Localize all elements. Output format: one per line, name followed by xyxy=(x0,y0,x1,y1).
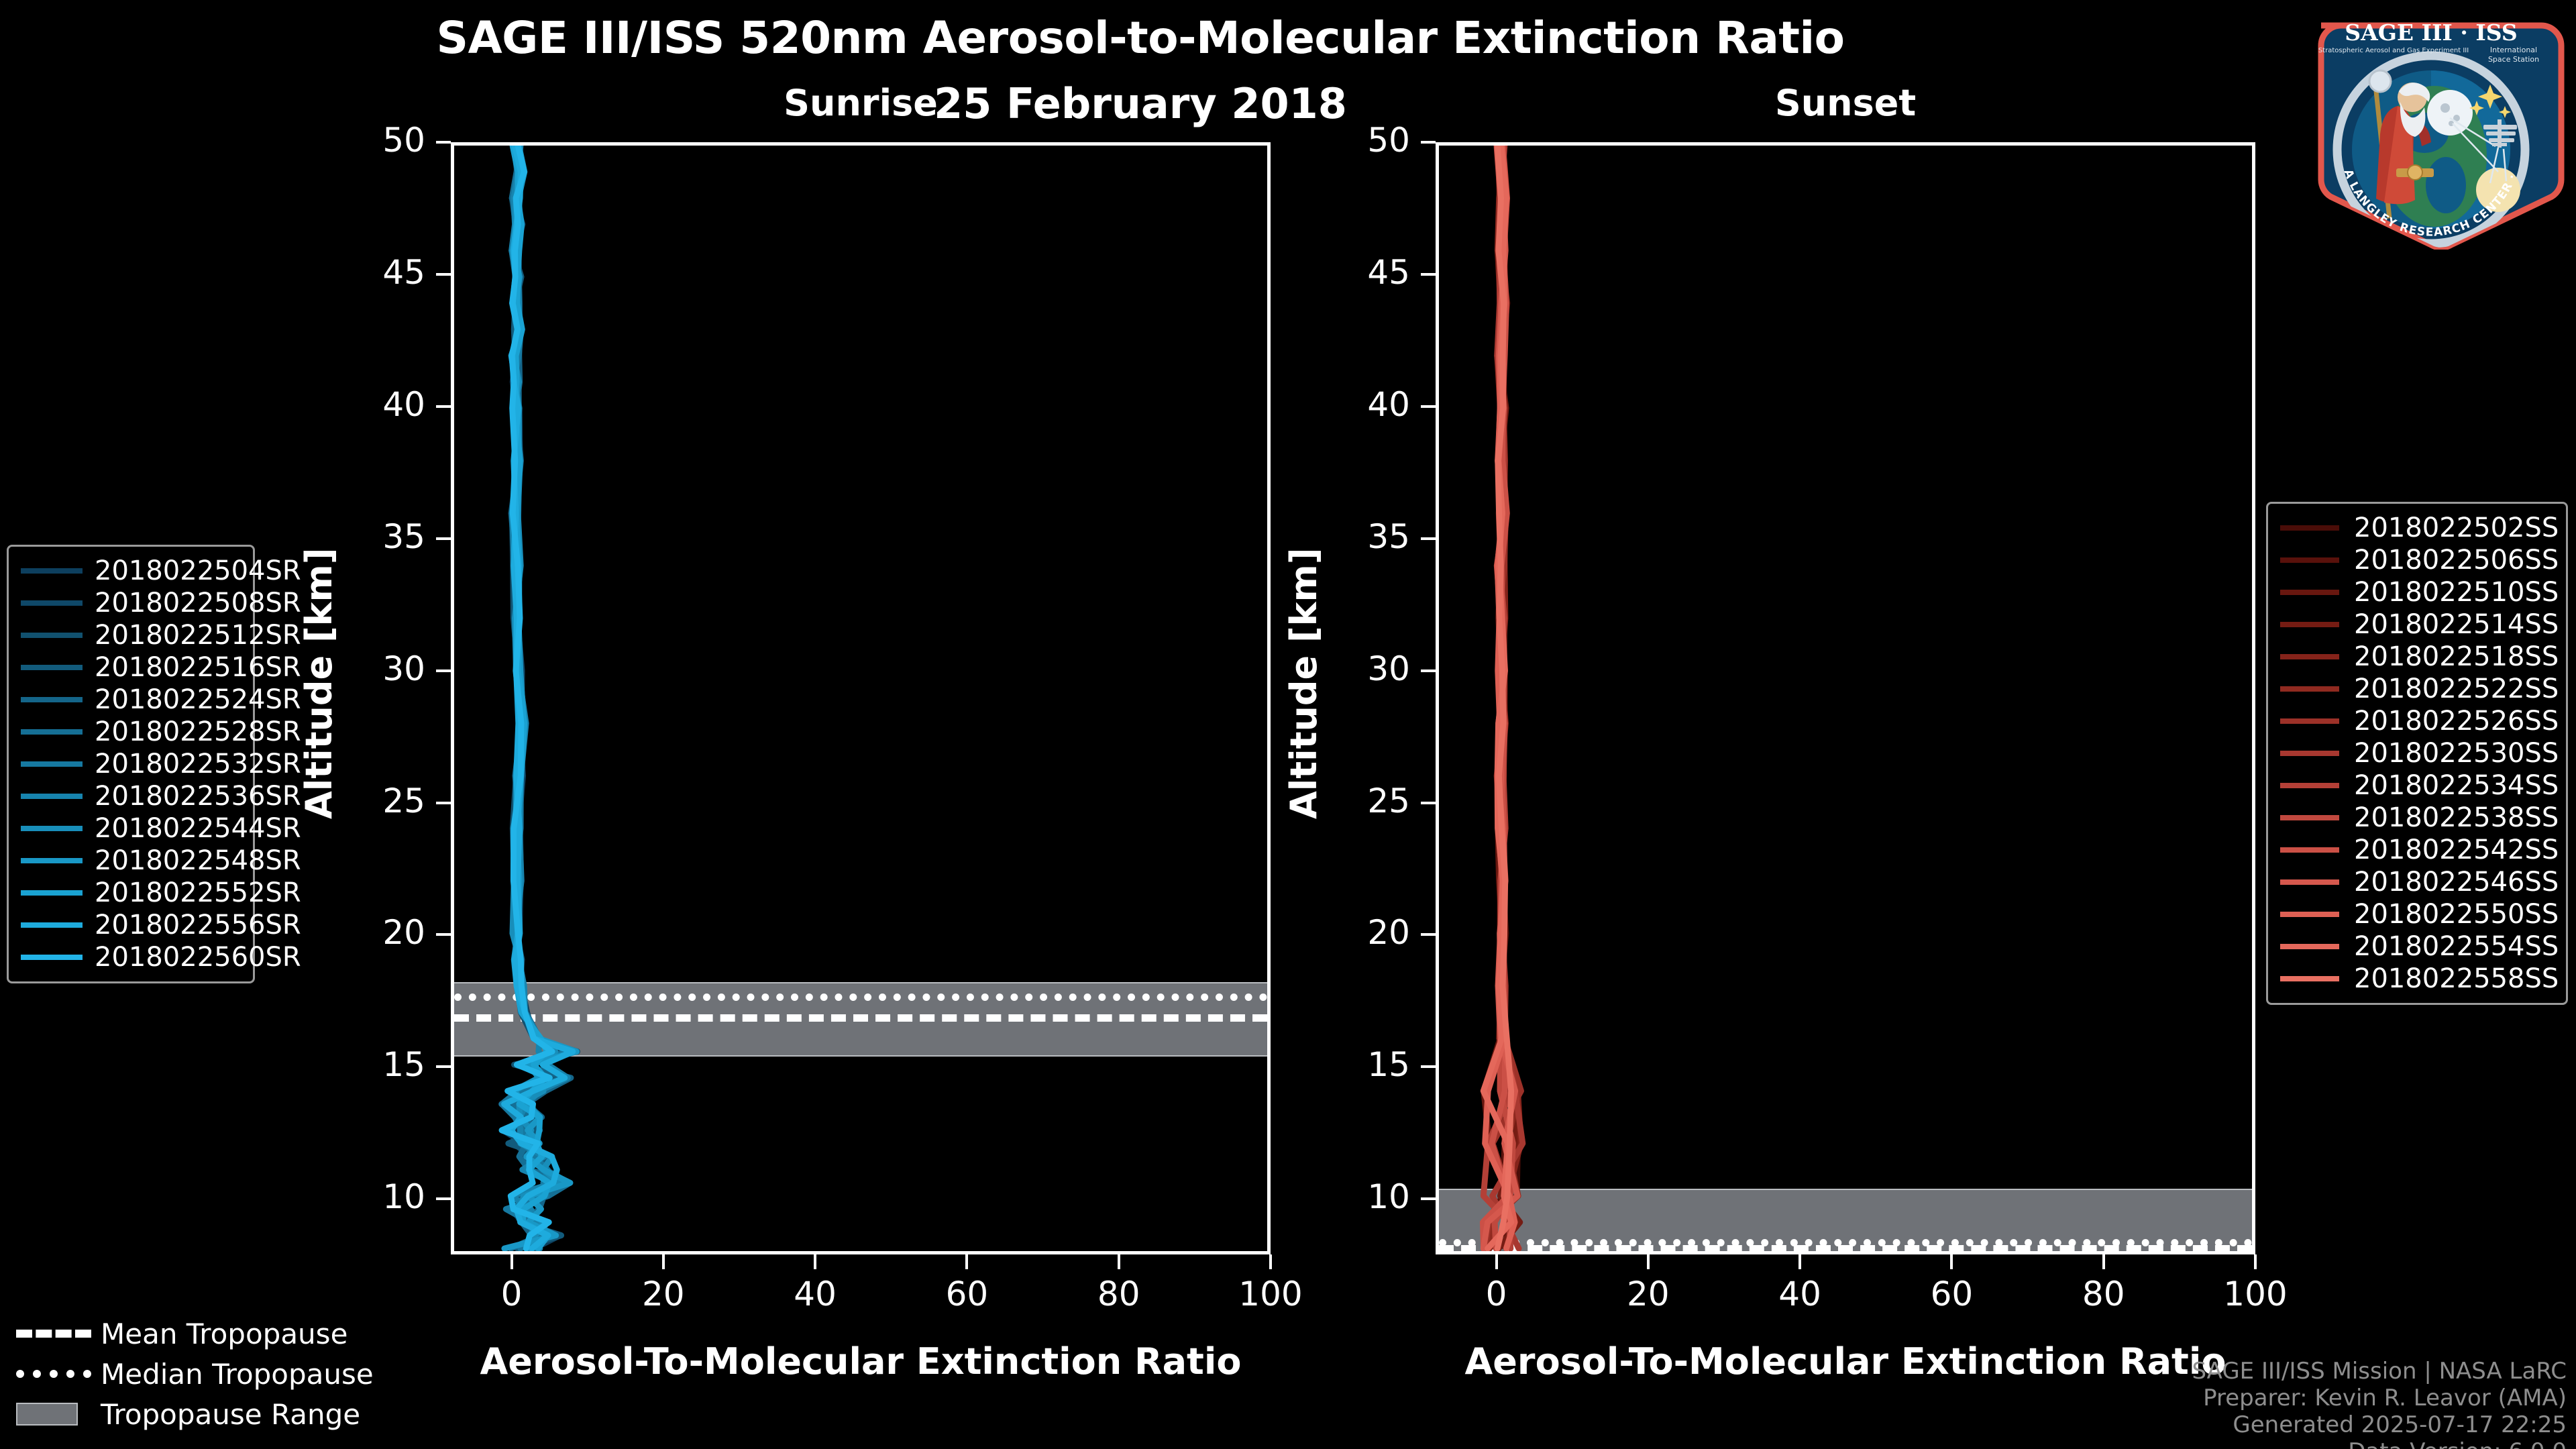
legend-sunset-label: 2018022514SS xyxy=(2354,609,2559,640)
xtick-sunset-80 xyxy=(2102,1254,2105,1269)
legend-sunrise-label: 2018022516SR xyxy=(95,652,301,683)
page-title: SAGE III/ISS 520nm Aerosol-to-Molecular … xyxy=(0,12,2281,64)
legend-sunset-item[interactable]: 2018022506SS xyxy=(2280,544,2554,576)
legend-sunrise-item[interactable]: 2018022544SR xyxy=(21,812,241,845)
legend-sunset-color-swatch xyxy=(2280,847,2339,853)
footer-line-mission: SAGE III/ISS Mission | NASA LaRC xyxy=(2192,1358,2567,1385)
xtick-label-sunrise-20: 20 xyxy=(596,1275,731,1313)
legend-sunrise-item[interactable]: 2018022512SR xyxy=(21,619,241,651)
legend-sunrise-label: 2018022528SR xyxy=(95,716,301,747)
ytick-sunset-35 xyxy=(1421,537,1436,540)
legend-sunrise-color-swatch xyxy=(21,922,83,928)
patch-subtitle-right-1: International xyxy=(2490,46,2537,54)
legend-sunrise-color-swatch xyxy=(21,568,83,574)
footer-credits: SAGE III/ISS Mission | NASA LaRC Prepare… xyxy=(2192,1358,2567,1449)
legend-sunrise-label: 2018022508SR xyxy=(95,588,301,619)
xaxis-title-sunset: Aerosol-To-Molecular Extinction Ratio xyxy=(1436,1340,2255,1383)
legend-sunrise-label: 2018022548SR xyxy=(95,845,301,876)
yaxis-title-sunset: Altitude [km] xyxy=(1283,548,1325,820)
plot-area-sunrise xyxy=(451,142,1271,1254)
xtick-sunrise-20 xyxy=(662,1254,665,1269)
legend-sunset-item[interactable]: 2018022502SS xyxy=(2280,512,2554,544)
legend-sunrise-label: 2018022532SR xyxy=(95,749,301,780)
ytick-label-sunset-50: 50 xyxy=(1308,121,1410,160)
legend-sunset-item[interactable]: 2018022550SS xyxy=(2280,898,2554,930)
xtick-sunrise-80 xyxy=(1118,1254,1120,1269)
ytick-label-sunrise-45: 45 xyxy=(323,253,425,292)
legend-sunrise-label: 2018022544SR xyxy=(95,813,301,844)
legend-sunset-item[interactable]: 2018022546SS xyxy=(2280,866,2554,898)
legend-sunset-color-swatch xyxy=(2280,557,2339,563)
legend-sunset-label: 2018022530SS xyxy=(2354,738,2559,769)
legend-sunset-label: 2018022534SS xyxy=(2354,770,2559,801)
footer-line-generated: Generated 2025-07-17 22:25 xyxy=(2192,1411,2567,1438)
legend-sunrise-color-swatch xyxy=(21,600,83,606)
ytick-label-sunset-45: 45 xyxy=(1308,253,1410,292)
ytick-label-sunrise-20: 20 xyxy=(323,913,425,952)
legend-sunset-label: 2018022546SS xyxy=(2354,867,2559,898)
legend-sunrise-item[interactable]: 2018022504SR xyxy=(21,555,241,587)
legend-sunset-color-swatch xyxy=(2280,718,2339,724)
legend-sunset-color-swatch xyxy=(2280,912,2339,917)
ytick-sunrise-10 xyxy=(436,1197,451,1200)
xtick-sunset-100 xyxy=(2254,1254,2257,1269)
panel-title-sunset: Sunset xyxy=(1436,82,2255,124)
patch-subtitle-right-2: Space Station xyxy=(2488,55,2539,64)
profile-curves-sunrise xyxy=(454,146,1267,1251)
tropopause-key-glyph-dotted xyxy=(16,1370,91,1378)
legend-sunrise-color-swatch xyxy=(21,955,83,960)
legend-sunrise-item[interactable]: 2018022536SR xyxy=(21,780,241,812)
legend-sunset-label: 2018022550SS xyxy=(2354,899,2559,930)
ytick-sunset-10 xyxy=(1421,1197,1436,1200)
legend-sunrise-color-swatch xyxy=(21,665,83,670)
footer-line-preparer: Preparer: Kevin R. Leavor (AMA) xyxy=(2192,1385,2567,1411)
ytick-sunset-20 xyxy=(1421,933,1436,936)
legend-sunset-label: 2018022502SS xyxy=(2354,513,2559,543)
ytick-sunset-25 xyxy=(1421,802,1436,804)
legend-sunrise-item[interactable]: 2018022548SR xyxy=(21,845,241,877)
xtick-sunset-40 xyxy=(1799,1254,1801,1269)
legend-sunset-item[interactable]: 2018022558SS xyxy=(2280,963,2554,995)
legend-sunset-color-swatch xyxy=(2280,622,2339,627)
xtick-sunset-0 xyxy=(1495,1254,1498,1269)
xtick-sunrise-100 xyxy=(1269,1254,1272,1269)
tropopause-key-mark xyxy=(16,1370,91,1378)
legend-sunset-item[interactable]: 2018022534SS xyxy=(2280,769,2554,802)
legend-sunset-item[interactable]: 2018022510SS xyxy=(2280,576,2554,608)
legend-sunset-color-swatch xyxy=(2280,879,2339,885)
tropopause-key-glyph-patch xyxy=(16,1403,91,1426)
legend-sunrise-color-swatch xyxy=(21,633,83,638)
legend-sunset-item[interactable]: 2018022542SS xyxy=(2280,834,2554,866)
ytick-sunrise-35 xyxy=(436,537,451,540)
legend-sunrise-color-swatch xyxy=(21,697,83,702)
xtick-label-sunrise-40: 40 xyxy=(748,1275,882,1313)
xtick-label-sunset-80: 80 xyxy=(2037,1275,2171,1313)
legend-sunset-item[interactable]: 2018022518SS xyxy=(2280,641,2554,673)
legend-sunset-color-swatch xyxy=(2280,590,2339,595)
legend-sunset-color-swatch xyxy=(2280,815,2339,820)
legend-sunset-color-swatch xyxy=(2280,654,2339,659)
legend-sunrise-item[interactable]: 2018022524SR xyxy=(21,684,241,716)
xtick-sunrise-60 xyxy=(965,1254,968,1269)
ytick-sunrise-25 xyxy=(436,802,451,804)
legend-sunrise-item[interactable]: 2018022560SR xyxy=(21,941,241,973)
sage-iii-iss-mission-patch-icon: SAGE III · ISS Stratospheric Aerosol and… xyxy=(2297,5,2565,250)
tropopause-key-glyph-dashed xyxy=(16,1330,91,1338)
legend-sunset-label: 2018022518SS xyxy=(2354,641,2559,672)
legend-sunset-color-swatch xyxy=(2280,751,2339,756)
ytick-label-sunset-20: 20 xyxy=(1308,913,1410,952)
tropopause-key-item: Tropopause Range xyxy=(16,1394,392,1434)
footer-line-version: Data Version: 6.0.0 xyxy=(2192,1438,2567,1449)
legend-sunset-item[interactable]: 2018022530SS xyxy=(2280,737,2554,769)
tropopause-key-mark xyxy=(16,1403,78,1426)
legend-sunrise[interactable]: 2018022504SR2018022508SR2018022512SR2018… xyxy=(7,545,255,983)
xtick-sunset-60 xyxy=(1950,1254,1953,1269)
tropopause-key-label: Median Tropopause xyxy=(101,1358,374,1391)
legend-sunrise-color-swatch xyxy=(21,794,83,799)
ytick-label-sunset-40: 40 xyxy=(1308,385,1410,424)
ytick-sunset-45 xyxy=(1421,273,1436,276)
legend-sunset-color-swatch xyxy=(2280,783,2339,788)
legend-sunset-item[interactable]: 2018022554SS xyxy=(2280,930,2554,963)
tropopause-key-item: Mean Tropopause xyxy=(16,1313,392,1354)
xaxis-title-sunrise: Aerosol-To-Molecular Extinction Ratio xyxy=(451,1340,1271,1383)
xtick-sunset-20 xyxy=(1647,1254,1650,1269)
legend-sunset-label: 2018022510SS xyxy=(2354,577,2559,608)
patch-subtitle-left: Stratospheric Aerosol and Gas Experiment… xyxy=(2318,47,2469,54)
legend-tropopause-key: Mean TropopauseMedian TropopauseTropopau… xyxy=(16,1313,392,1434)
xtick-label-sunset-20: 20 xyxy=(1581,1275,1715,1313)
ytick-sunrise-30 xyxy=(436,669,451,672)
legend-sunset-color-swatch xyxy=(2280,944,2339,949)
ytick-sunset-50 xyxy=(1421,141,1436,144)
tropopause-key-label: Tropopause Range xyxy=(101,1398,360,1431)
legend-sunset-item[interactable]: 2018022526SS xyxy=(2280,705,2554,737)
legend-sunset-label: 2018022526SS xyxy=(2354,706,2559,737)
profile-curves-sunset xyxy=(1439,146,2252,1251)
legend-sunset-color-swatch xyxy=(2280,525,2339,531)
ytick-sunrise-20 xyxy=(436,933,451,936)
xtick-label-sunrise-60: 60 xyxy=(900,1275,1034,1313)
ytick-label-sunrise-40: 40 xyxy=(323,385,425,424)
legend-sunrise-item[interactable]: 2018022556SR xyxy=(21,909,241,941)
ytick-label-sunrise-10: 10 xyxy=(323,1177,425,1216)
legend-sunset-item[interactable]: 2018022538SS xyxy=(2280,802,2554,834)
tropopause-key-label: Mean Tropopause xyxy=(101,1318,347,1350)
ytick-sunrise-45 xyxy=(436,273,451,276)
legend-sunrise-color-swatch xyxy=(21,858,83,863)
xtick-label-sunrise-0: 0 xyxy=(445,1275,579,1313)
patch-title: SAGE III · ISS xyxy=(2345,19,2517,46)
legend-sunrise-label: 2018022556SR xyxy=(95,910,301,941)
legend-sunrise-color-swatch xyxy=(21,890,83,896)
ytick-sunset-15 xyxy=(1421,1065,1436,1068)
legend-sunrise-item[interactable]: 2018022516SR xyxy=(21,651,241,684)
ytick-sunrise-15 xyxy=(436,1065,451,1068)
legend-sunrise-item[interactable]: 2018022532SR xyxy=(21,748,241,780)
legend-sunrise-item[interactable]: 2018022508SR xyxy=(21,587,241,619)
legend-sunrise-color-swatch xyxy=(21,729,83,735)
ytick-label-sunrise-50: 50 xyxy=(323,121,425,160)
legend-sunset-color-swatch xyxy=(2280,976,2339,981)
ytick-sunset-40 xyxy=(1421,405,1436,408)
legend-sunrise-label: 2018022560SR xyxy=(95,942,301,973)
xtick-label-sunrise-80: 80 xyxy=(1052,1275,1186,1313)
ytick-label-sunset-10: 10 xyxy=(1308,1177,1410,1216)
legend-sunrise-item[interactable]: 2018022552SR xyxy=(21,877,241,909)
legend-sunset-label: 2018022538SS xyxy=(2354,802,2559,833)
yaxis-title-sunrise: Altitude [km] xyxy=(298,548,340,820)
xtick-label-sunset-60: 60 xyxy=(1884,1275,2019,1313)
xtick-label-sunset-0: 0 xyxy=(1430,1275,1564,1313)
legend-sunrise-label: 2018022552SR xyxy=(95,877,301,908)
legend-sunrise-item[interactable]: 2018022528SR xyxy=(21,716,241,748)
legend-sunrise-label: 2018022504SR xyxy=(95,555,301,586)
legend-sunrise-color-swatch xyxy=(21,826,83,831)
xtick-sunrise-40 xyxy=(814,1254,816,1269)
ytick-label-sunrise-15: 15 xyxy=(323,1045,425,1084)
legend-sunset-label: 2018022522SS xyxy=(2354,674,2559,704)
xtick-label-sunset-100: 100 xyxy=(2188,1275,2322,1313)
legend-sunset-item[interactable]: 2018022522SS xyxy=(2280,673,2554,705)
legend-sunset-color-swatch xyxy=(2280,686,2339,692)
ytick-label-sunset-15: 15 xyxy=(1308,1045,1410,1084)
xtick-label-sunrise-100: 100 xyxy=(1203,1275,1338,1313)
legend-sunset-label: 2018022558SS xyxy=(2354,963,2559,994)
tropopause-key-item: Median Tropopause xyxy=(16,1354,392,1394)
legend-sunset[interactable]: 2018022502SS2018022506SS2018022510SS2018… xyxy=(2266,502,2568,1005)
legend-sunset-label: 2018022554SS xyxy=(2354,931,2559,962)
ytick-sunrise-50 xyxy=(436,141,451,144)
plot-area-sunset xyxy=(1436,142,2255,1254)
xtick-label-sunset-40: 40 xyxy=(1733,1275,1867,1313)
xtick-sunrise-0 xyxy=(511,1254,513,1269)
legend-sunset-label: 2018022506SS xyxy=(2354,545,2559,576)
ytick-sunrise-40 xyxy=(436,405,451,408)
tropopause-key-mark xyxy=(16,1330,91,1338)
panel-title-sunrise: Sunrise xyxy=(451,82,1271,124)
legend-sunrise-label: 2018022536SR xyxy=(95,781,301,812)
legend-sunset-label: 2018022542SS xyxy=(2354,835,2559,865)
ytick-sunset-30 xyxy=(1421,669,1436,672)
legend-sunset-item[interactable]: 2018022514SS xyxy=(2280,608,2554,641)
legend-sunrise-label: 2018022524SR xyxy=(95,684,301,715)
legend-sunrise-color-swatch xyxy=(21,761,83,767)
legend-sunrise-label: 2018022512SR xyxy=(95,620,301,651)
